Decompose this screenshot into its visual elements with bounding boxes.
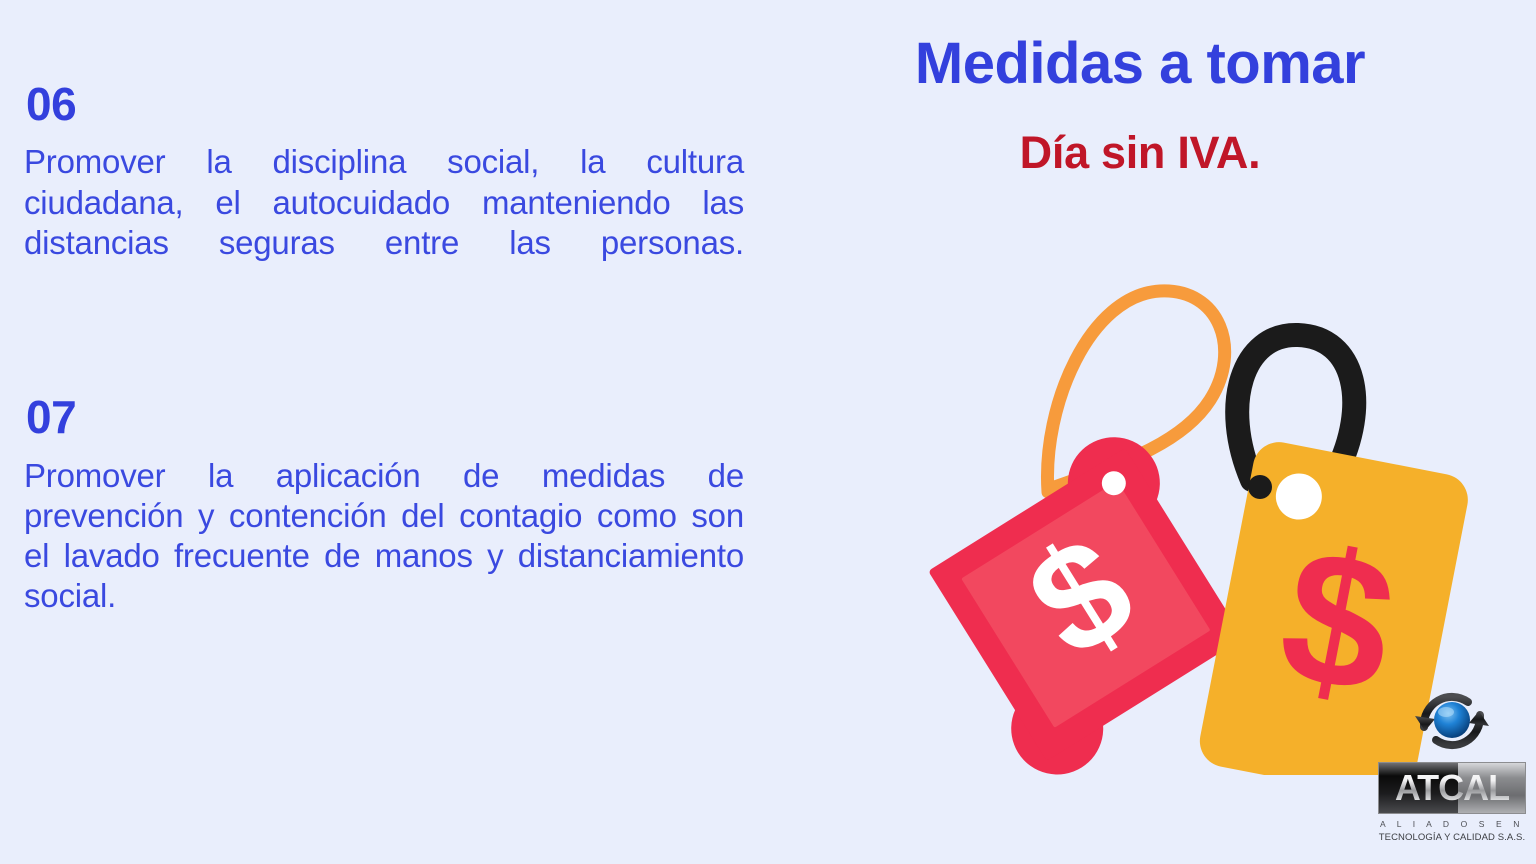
arrow-bottom-head-icon <box>1469 711 1489 726</box>
measure-number-06: 06 <box>26 80 744 128</box>
measure-text-07: Promover la aplicación de medidas de pre… <box>24 456 744 657</box>
page-title: Medidas a tomar <box>770 34 1510 95</box>
measure-number-07: 07 <box>26 393 744 441</box>
slide-canvas: 06 Promover la disciplina social, la cul… <box>0 0 1536 864</box>
black-string-end <box>1248 475 1272 499</box>
heading-group: Medidas a tomar Día sin IVA. <box>770 34 1510 177</box>
measure-item-06: 06 Promover la disciplina social, la cul… <box>24 80 744 303</box>
logo-tagline-line1: A L I A D O S E N <box>1374 819 1530 829</box>
atcal-wordmark-text: ATCAL <box>1379 763 1525 813</box>
logo-tagline-line2: TECNOLOGÍA Y CALIDAD S.A.S. <box>1374 832 1530 843</box>
refresh-globe-icon <box>1402 682 1502 760</box>
globe-sphere-icon <box>1434 702 1470 738</box>
measures-spacer <box>24 325 744 393</box>
globe-highlight-icon <box>1438 707 1454 717</box>
atcal-wordmark-box: ATCAL <box>1378 762 1526 814</box>
measure-item-07: 07 Promover la aplicación de medidas de … <box>24 393 744 657</box>
atcal-logo: ATCAL A L I A D O S E N TECNOLOGÍA Y CAL… <box>1374 682 1530 857</box>
measure-text-06: Promover la disciplina social, la cultur… <box>24 142 744 303</box>
measures-list: 06 Promover la disciplina social, la cul… <box>24 80 744 679</box>
page-subtitle: Día sin IVA. <box>770 128 1510 178</box>
arrow-top-head-icon <box>1415 716 1435 731</box>
